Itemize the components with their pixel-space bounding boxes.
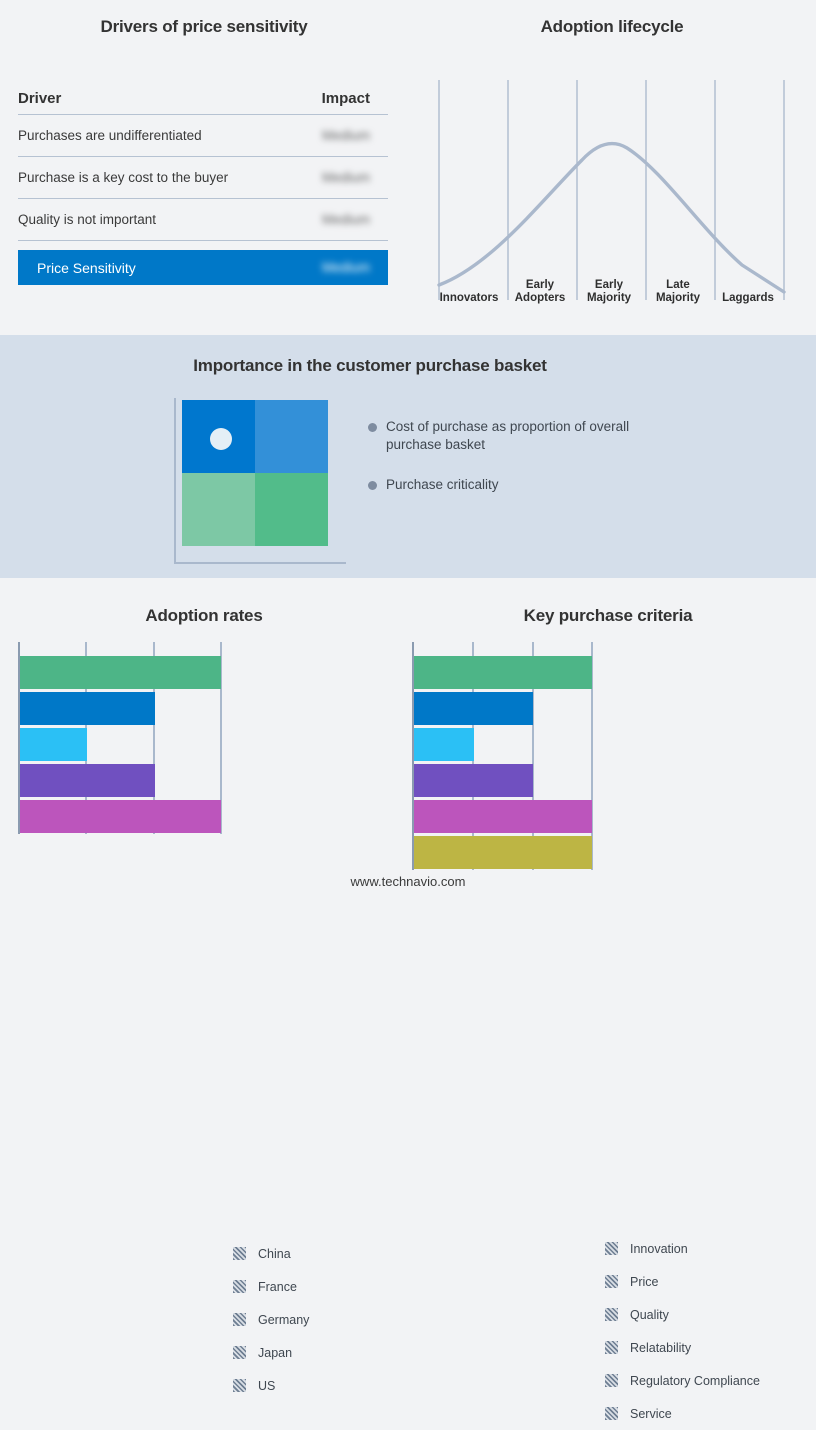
legend-item-quality: Quality [605, 1298, 760, 1331]
legend-item-germany: Germany [233, 1303, 309, 1336]
hatch-swatch-icon [605, 1341, 618, 1354]
hatch-swatch-icon [233, 1379, 246, 1392]
legend-item: Cost of purchase as proportion of overal… [368, 418, 668, 454]
hatch-swatch-icon [605, 1407, 618, 1420]
legend-label: Relatability [630, 1341, 691, 1355]
legend-item-france: France [233, 1270, 309, 1303]
legend-item-price: Price [605, 1265, 760, 1298]
bullet-dot-icon [368, 423, 377, 432]
legend-label: Quality [630, 1308, 669, 1322]
driver-label: Purchase is a key cost to the buyer [18, 170, 228, 185]
legend-label: Innovation [630, 1242, 688, 1256]
bar-innovation [414, 656, 592, 689]
hatch-swatch-icon [233, 1280, 246, 1293]
matrix-legend: Cost of purchase as proportion of overal… [368, 418, 668, 516]
bar-germany [20, 728, 87, 761]
table-row: Purchase is a key cost to the buyer Medi… [18, 157, 388, 199]
hatch-swatch-icon [605, 1242, 618, 1255]
key-purchase-criteria-legend: Innovation Price Quality Relatability Re… [605, 1232, 760, 1430]
bar-price [414, 692, 533, 725]
bar-service [414, 836, 592, 869]
matrix-quadrant-bottom-left [182, 473, 255, 546]
bar-china [20, 656, 221, 689]
hatch-swatch-icon [233, 1346, 246, 1359]
footer-url: www.technavio.com [0, 874, 816, 889]
matrix-y-axis [174, 398, 176, 562]
adoption-rates-legend: China France Germany Japan US [233, 1237, 309, 1402]
driver-label: Quality is not important [18, 212, 156, 227]
lifecycle-chart: Innovators Early Adopters Early Majority… [432, 80, 792, 305]
key-purchase-criteria-panel: Key purchase criteria Innovation Price Q… [400, 578, 816, 902]
lifecycle-curve-svg [432, 80, 792, 305]
matrix-x-axis [174, 562, 346, 564]
segment-label-laggards: Laggards [712, 292, 784, 305]
legend-label: Germany [258, 1313, 309, 1327]
table-row: Purchases are undifferentiated Medium [18, 115, 388, 157]
bar-france [20, 692, 155, 725]
legend-item-us: US [233, 1369, 309, 1402]
legend-item-japan: Japan [233, 1336, 309, 1369]
bullet-dot-icon [368, 481, 377, 490]
legend-label: Price [630, 1275, 658, 1289]
legend-item-service: Service [605, 1397, 760, 1430]
bar-us [20, 800, 221, 833]
drivers-panel: Drivers of price sensitivity Driver Impa… [0, 0, 408, 335]
impact-value: Medium [322, 170, 388, 185]
legend-item: Purchase criticality [368, 476, 668, 494]
hatch-swatch-icon [605, 1275, 618, 1288]
adoption-bell-curve [439, 144, 784, 292]
table-row-highlighted: Price Sensitivity Medium [18, 250, 388, 285]
hatch-swatch-icon [233, 1247, 246, 1260]
drivers-title: Drivers of price sensitivity [0, 17, 408, 37]
purchase-basket-section: Importance in the customer purchase bask… [0, 335, 816, 578]
bar-regulatory-compliance [414, 800, 592, 833]
legend-item-regulatory-compliance: Regulatory Compliance [605, 1364, 760, 1397]
adoption-rates-plot [18, 642, 223, 834]
key-purchase-criteria-plot [412, 642, 594, 870]
legend-label: Cost of purchase as proportion of overal… [386, 418, 636, 454]
purchase-basket-matrix [182, 400, 332, 550]
hatch-swatch-icon [605, 1374, 618, 1387]
impact-value: Medium [322, 212, 388, 227]
legend-label: US [258, 1379, 275, 1393]
matrix-quadrant-top-right [255, 400, 328, 473]
legend-label: China [258, 1247, 291, 1261]
legend-item-innovation: Innovation [605, 1232, 760, 1265]
bar-relatability [414, 764, 533, 797]
legend-item-relatability: Relatability [605, 1331, 760, 1364]
impact-value-highlighted: Medium [322, 260, 388, 275]
segment-label-early-adopters: Early Adopters [505, 279, 575, 305]
hatch-swatch-icon [605, 1308, 618, 1321]
adoption-rates-title: Adoption rates [0, 606, 408, 626]
lifecycle-title: Adoption lifecycle [408, 17, 816, 37]
column-header-impact: Impact [322, 90, 388, 107]
legend-label: France [258, 1280, 297, 1294]
segment-label-innovators: Innovators [434, 292, 504, 305]
legend-item-china: China [233, 1237, 309, 1270]
legend-label: Purchase criticality [386, 476, 499, 494]
impact-value: Medium [322, 128, 388, 143]
segment-label-early-majority: Early Majority [574, 279, 644, 305]
bottom-section: Adoption rates China France Germany Japa… [0, 578, 816, 902]
segment-label-late-majority: Late Majority [643, 279, 713, 305]
bar-quality [414, 728, 474, 761]
lifecycle-gridlines [439, 80, 784, 300]
column-header-driver: Driver [18, 90, 61, 107]
matrix-quadrant-bottom-right [255, 473, 328, 546]
key-purchase-criteria-title: Key purchase criteria [400, 606, 816, 626]
matrix-title: Importance in the customer purchase bask… [0, 356, 740, 376]
legend-label: Japan [258, 1346, 292, 1360]
driver-label: Purchases are undifferentiated [18, 128, 202, 143]
matrix-position-marker [210, 428, 232, 450]
adoption-lifecycle-panel: Adoption lifecycle Innovators Early Adop… [408, 0, 816, 335]
driver-label-highlighted: Price Sensitivity [37, 260, 136, 276]
table-header-row: Driver Impact [18, 90, 388, 115]
legend-label: Service [630, 1407, 672, 1421]
legend-label: Regulatory Compliance [630, 1374, 760, 1388]
drivers-table: Driver Impact Purchases are undifferenti… [18, 90, 388, 285]
adoption-rates-panel: Adoption rates China France Germany Japa… [0, 578, 408, 902]
bar-japan [20, 764, 155, 797]
table-row: Quality is not important Medium [18, 199, 388, 241]
hatch-swatch-icon [233, 1313, 246, 1326]
top-section: Drivers of price sensitivity Driver Impa… [0, 0, 816, 335]
